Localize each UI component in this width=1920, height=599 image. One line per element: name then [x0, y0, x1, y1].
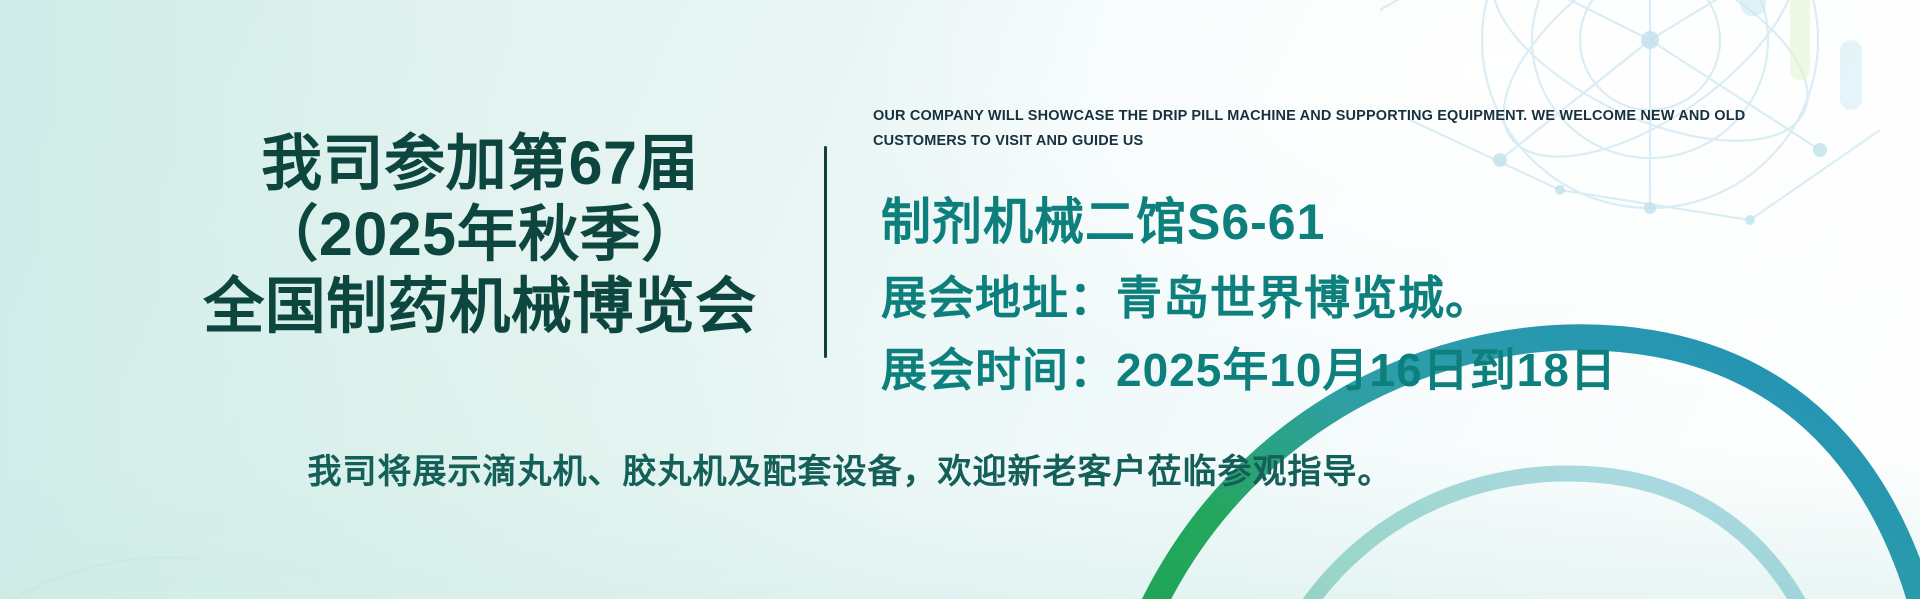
vertical-divider [824, 146, 827, 358]
english-note: OUR COMPANY WILL SHOWCASE THE DRIP PILL … [873, 104, 1793, 153]
exhibition-banner: 我司参加第67届 （2025年秋季） 全国制药机械博览会 OUR COMPANY… [0, 0, 1920, 599]
headline-line-2: （2025年秋季） [140, 199, 820, 270]
headline-line-1: 我司参加第67届 [140, 128, 820, 199]
hall-booth-number: 制剂机械二馆S6-61 [881, 182, 1325, 254]
english-note-line-2: VISIT AND GUIDE US [995, 133, 1143, 149]
event-datetime: 展会时间：2025年10月16日到18日 [881, 334, 1617, 400]
headline-left: 我司参加第67届 （2025年秋季） 全国制药机械博览会 [140, 128, 820, 342]
tagline: 我司将展示滴丸机、胶丸机及配套设备，欢迎新老客户莅临参观指导。 [0, 444, 1700, 493]
venue-address: 展会地址：青岛世界博览城。 [881, 262, 1492, 328]
banner-content: 我司参加第67届 （2025年秋季） 全国制药机械博览会 OUR COMPANY… [0, 0, 1920, 599]
headline-line-3: 全国制药机械博览会 [140, 271, 820, 342]
